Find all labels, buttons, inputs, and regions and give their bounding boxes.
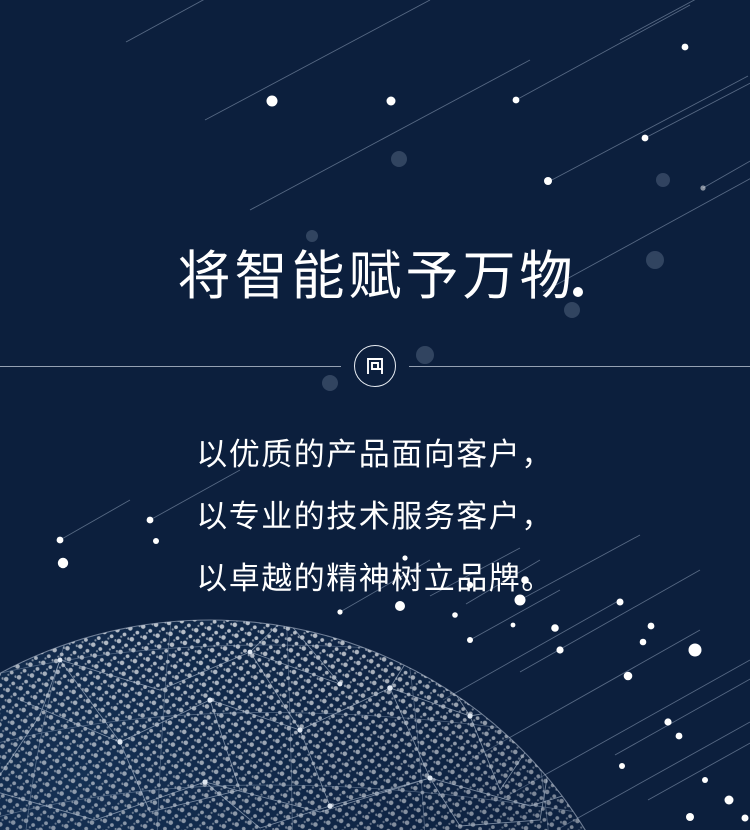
slogan-line-2: 以专业的技术服务客户， [0,486,750,548]
brand-banner: 将智能赋予万物 以优质的产品面向客户， 以专业的技术服务客户， 以卓越的精神树立… [0,0,750,830]
slogan-line-1: 以优质的产品面向客户， [0,424,750,486]
comet-node-starfield [0,0,750,830]
divider-rule-right [409,366,750,367]
dotted-network-globe [0,0,750,830]
page-title: 将智能赋予万物 [0,244,750,310]
spiral-square-logo-icon [354,345,396,387]
divider-rule-left [0,366,341,367]
slogan-line-3: 以卓越的精神树立品牌。 [0,548,750,610]
divider [0,341,750,391]
slogan-block: 以优质的产品面向客户， 以专业的技术服务客户， 以卓越的精神树立品牌。 [0,424,750,610]
